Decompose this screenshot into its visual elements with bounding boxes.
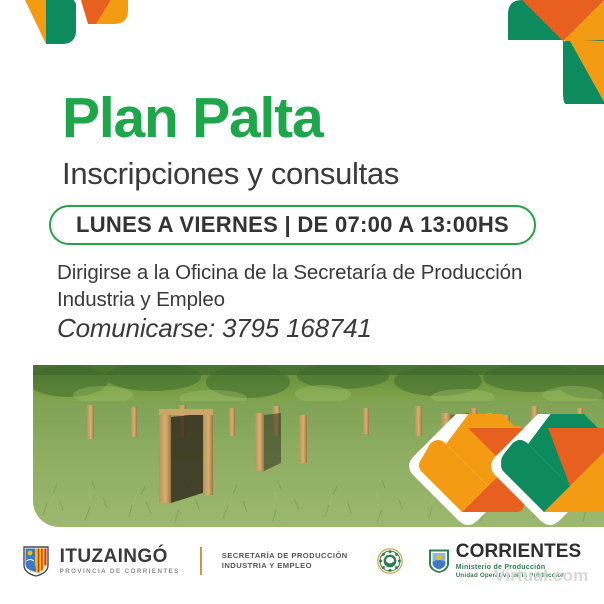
secretariat-line-1: SECRETARÍA DE PRODUCCIÓN [222, 551, 348, 561]
chevron-pair-bottom-right-icon [392, 414, 604, 550]
schedule-badge: LUNES A VIERNES | DE 07:00 A 13:00HS [49, 205, 536, 245]
corrientes-name: CORRIENTES [456, 542, 582, 561]
poster-canvas: Plan Palta Inscripciones y consultas LUN… [0, 0, 604, 604]
secretariat-wordmark: SECRETARÍA DE PRODUCCIÓN INDUSTRIA Y EMP… [222, 551, 348, 572]
footer-logos: ITUZAINGÓ PROVINCIA DE CORRIENTES SECRET… [23, 542, 582, 579]
chevron-pair-top-left-icon [0, 0, 150, 72]
instructions-line-1: Dirigirse a la Oficina de la Secretaría … [57, 261, 522, 284]
corrientes-sub-1: Ministerio de Producción [456, 564, 582, 571]
contact-phone: Comunicarse: 3795 168741 [57, 313, 372, 344]
footer-logo-bar: ITUZAINGÓ PROVINCIA DE CORRIENTES SECRET… [0, 536, 604, 586]
ituzaingo-wordmark: ITUZAINGÓ PROVINCIA DE CORRIENTES [60, 547, 180, 575]
page-subtitle: Inscripciones y consultas [62, 158, 399, 189]
corrientes-shield-icon [428, 548, 450, 574]
instructions-line-2: Industria y Empleo [57, 288, 225, 311]
corrientes-sub-2: Unidad Operativa de la Producción [456, 573, 582, 579]
corrientes-wordmark: CORRIENTES Ministerio de Producción Unid… [456, 542, 582, 579]
secretariat-line-2: INDUSTRIA Y EMPLEO [222, 561, 348, 571]
ituzaingo-name: ITUZAINGÓ [60, 547, 180, 566]
ituzaingo-province: PROVINCIA DE CORRIENTES [60, 569, 180, 575]
corrientes-logo: CORRIENTES Ministerio de Producción Unid… [428, 542, 582, 579]
corner-block-top-right-icon [508, 0, 604, 104]
instructions-text: Dirigirse a la Oficina de la Secretaría … [57, 259, 567, 314]
ituzaingo-shield-icon [23, 545, 49, 577]
schedule-badge-label: LUNES A VIERNES | DE 07:00 A 13:00HS [76, 212, 509, 238]
circular-emblem-icon [377, 548, 403, 574]
page-title: Plan Palta [62, 90, 322, 147]
footer-divider [200, 547, 202, 575]
